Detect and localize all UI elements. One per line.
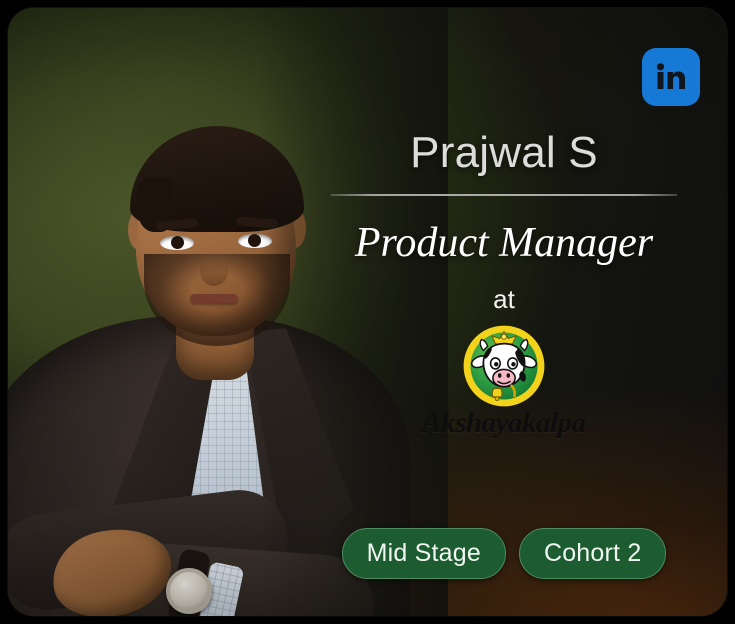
divider [331, 194, 677, 196]
screenshot-root: Prajwal S Product Manager at [0, 0, 735, 624]
company-block: Akshayakalpa [308, 323, 700, 440]
profile-card[interactable]: Prajwal S Product Manager at [8, 8, 727, 616]
linkedin-icon[interactable] [642, 48, 700, 106]
akshayakalpa-logo-icon [461, 323, 547, 409]
tag-badges: Mid Stage Cohort 2 [308, 528, 700, 579]
person-name: Prajwal S [308, 130, 700, 176]
status-badge[interactable]: Cohort 2 [519, 528, 667, 579]
status-badge[interactable]: Mid Stage [342, 528, 506, 579]
person-role: Product Manager [308, 220, 700, 266]
at-label: at [308, 284, 700, 315]
company-name: Akshayakalpa [422, 407, 585, 440]
info-column: Prajwal S Product Manager at [308, 130, 700, 440]
